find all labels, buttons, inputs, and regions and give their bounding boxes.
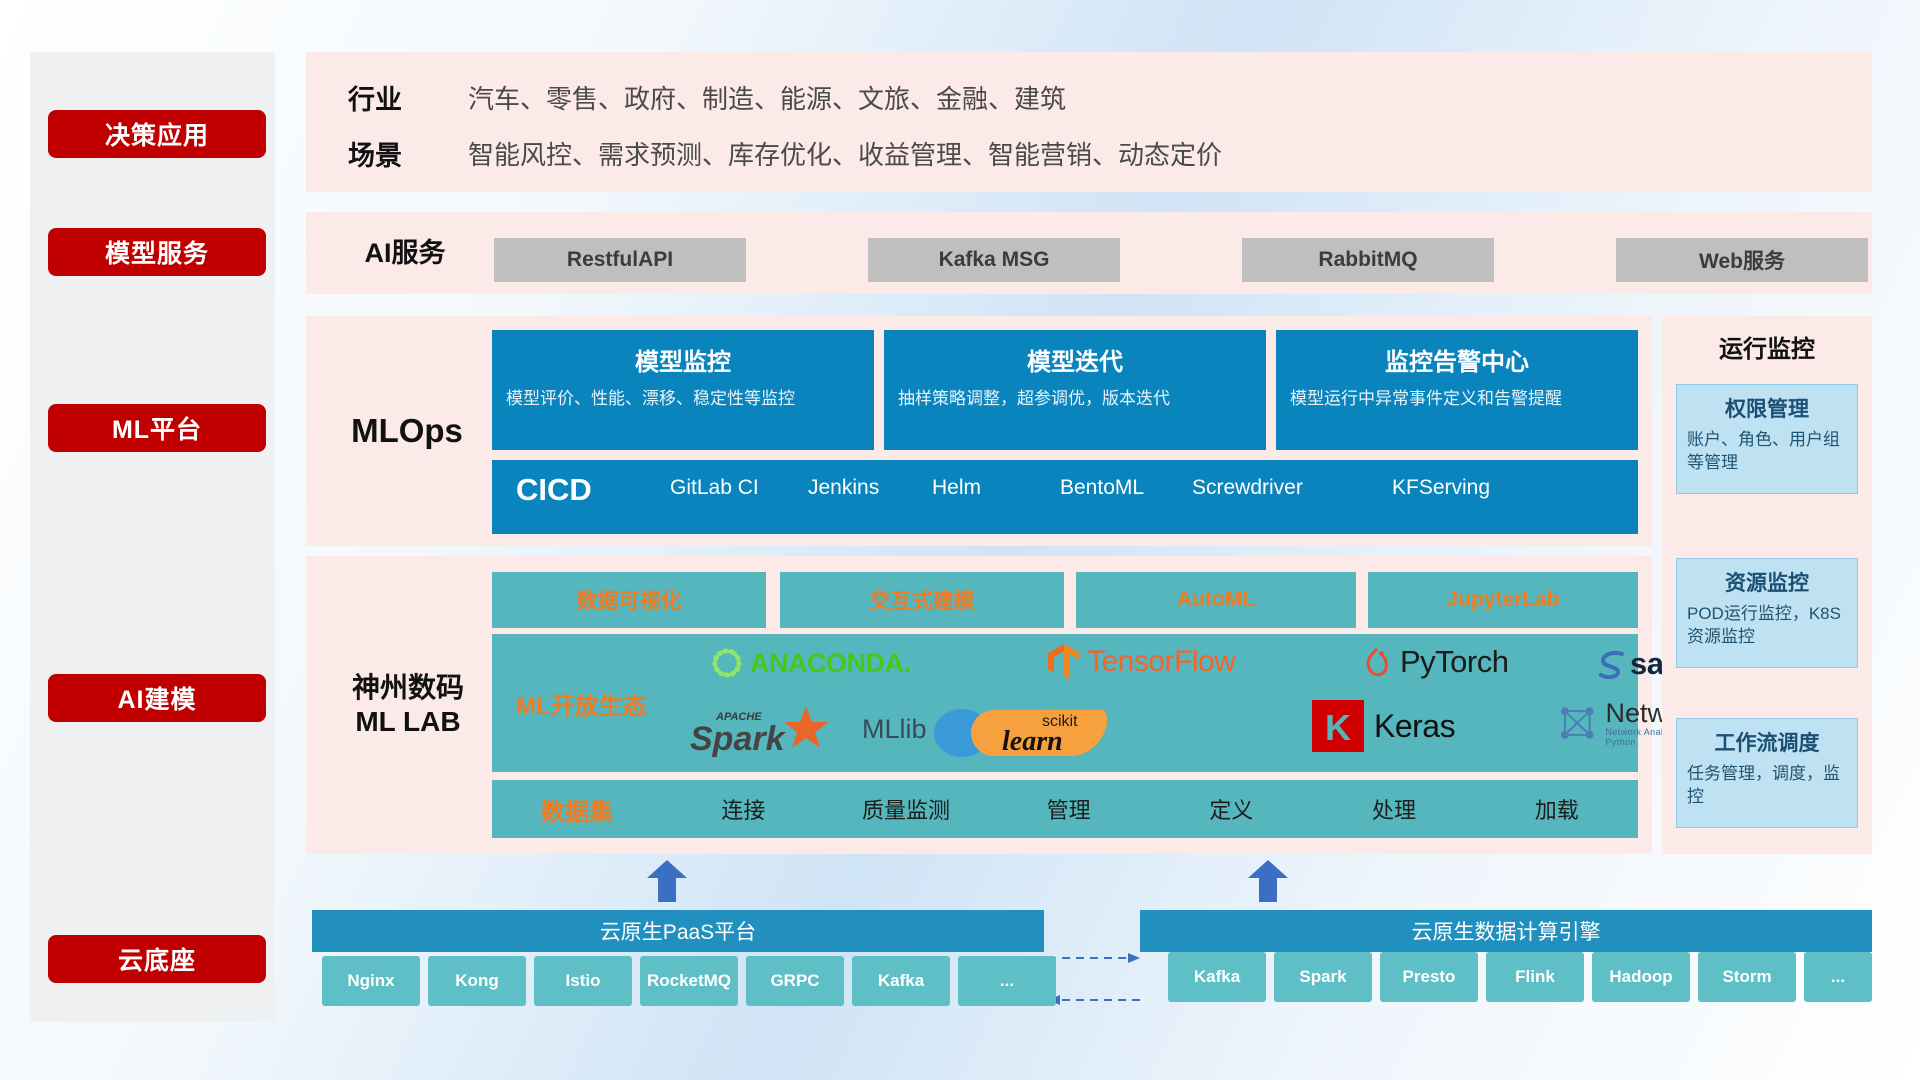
svg-text:learn: learn [1002, 726, 1063, 757]
service-chip-label: RabbitMQ [1318, 248, 1417, 272]
monitor-card-title: 资源监控 [1687, 567, 1847, 597]
lab-tab-jupyterlab[interactable]: JupyterLab [1368, 572, 1638, 628]
stage-label: AI建模 [117, 680, 196, 716]
lab-tab-interactive-modeling[interactable]: 交互式建模 [780, 572, 1064, 628]
ops-card-desc: 抽样策略调整，超参调优，版本迭代 [898, 387, 1252, 410]
sas-swirl-icon [1596, 648, 1628, 680]
ops-card-model-monitor[interactable]: 模型监控 模型评价、性能、漂移、稳定性等监控 [492, 330, 874, 450]
service-chip-restfulapi[interactable]: RestfulAPI [494, 238, 746, 282]
lab-tab-automl[interactable]: AutoML [1076, 572, 1356, 628]
scenario-value: 智能风控、需求预测、库存优化、收益管理、智能营销、动态定价 [468, 135, 1222, 172]
ops-card-title: 模型监控 [506, 342, 860, 377]
stage-chip-ml-platform[interactable]: ML平台 [48, 404, 266, 452]
lab-tab-label: JupyterLab [1446, 588, 1559, 612]
tensorflow-mark-icon [1048, 644, 1080, 680]
monitor-card-resource[interactable]: 资源监控 POD运行监控，K8S资源监控 [1676, 558, 1858, 668]
service-chip-label: RestfulAPI [567, 248, 673, 272]
engine-up-arrow-icon [1246, 860, 1290, 902]
ml-ecosystem-box: ML开放生态 ANACONDA. TensorFlow PyTorc [492, 634, 1638, 772]
ml-lab-label: 神州数码 ML LAB [318, 556, 498, 854]
service-chip-label: Web服务 [1699, 245, 1785, 275]
lab-tab-label: 交互式建模 [870, 585, 975, 615]
paas-chip-kong[interactable]: Kong [428, 956, 526, 1006]
ml-ecosystem-label: ML开放生态 [516, 686, 647, 721]
paas-chip-grpc[interactable]: GRPC [746, 956, 844, 1006]
monitor-card-permission[interactable]: 权限管理 账户、角色、用户组等管理 [1676, 384, 1858, 494]
service-chip-rabbitmq[interactable]: RabbitMQ [1242, 238, 1494, 282]
engine-chip-presto[interactable]: Presto [1380, 952, 1478, 1002]
scenario-row: 场景 智能风控、需求预测、库存优化、收益管理、智能营销、动态定价 [348, 134, 1222, 173]
industry-value: 汽车、零售、政府、制造、能源、文旅、金融、建筑 [468, 79, 1066, 116]
engine-chip-storm[interactable]: Storm [1698, 952, 1796, 1002]
engine-chip-more[interactable]: ... [1804, 952, 1872, 1002]
stage-chip-ai-modeling[interactable]: AI建模 [48, 674, 266, 722]
svg-text:K: K [1325, 707, 1351, 748]
lab-tab-label: 数据可视化 [577, 585, 682, 615]
stage-chip-model-svc[interactable]: 模型服务 [48, 228, 266, 276]
monitor-card-title: 工作流调度 [1687, 727, 1847, 757]
scikit-learn-logo: scikit learn [932, 700, 1122, 758]
cicd-item-bentoml[interactable]: BentoML [1060, 474, 1172, 502]
monitor-card-workflow[interactable]: 工作流调度 任务管理，调度，监控 [1676, 718, 1858, 828]
engine-bar-label: 云原生数据计算引擎 [1412, 916, 1601, 946]
cicd-item-screwdriver[interactable]: Screwdriver [1192, 474, 1304, 502]
stage-label: 云底座 [118, 941, 196, 977]
ml-lab-label-line1: 神州数码 [352, 671, 464, 705]
engine-chip-flink[interactable]: Flink [1486, 952, 1584, 1002]
pytorch-logo: PyTorch [1362, 644, 1508, 680]
paas-up-arrow-icon [645, 860, 689, 902]
dataset-item-load[interactable]: 加载 [1475, 793, 1638, 825]
pytorch-flame-icon [1362, 645, 1392, 679]
paas-bar: 云原生PaaS平台 [312, 910, 1044, 952]
runtime-monitor-title: 运行监控 [1662, 322, 1872, 378]
keras-logo: K Keras [1312, 700, 1455, 752]
dataset-item-define[interactable]: 定义 [1150, 793, 1313, 825]
dataset-item-manage[interactable]: 管理 [987, 793, 1150, 825]
cicd-label: CICD [516, 472, 592, 508]
tensorflow-logo-text: TensorFlow [1087, 645, 1235, 679]
mlops-label: MLOps [322, 316, 492, 546]
ops-card-desc: 模型运行中异常事件定义和告警提醒 [1290, 387, 1624, 410]
paas-chip-istio[interactable]: Istio [534, 956, 632, 1006]
engine-chip-kafka[interactable]: Kafka [1168, 952, 1266, 1002]
dataset-item-quality[interactable]: 质量监测 [825, 793, 988, 825]
ml-lab-label-line2: ML LAB [352, 705, 464, 739]
lab-tab-data-visualization[interactable]: 数据可视化 [492, 572, 766, 628]
industry-row: 行业 汽车、零售、政府、制造、能源、文旅、金融、建筑 [348, 78, 1066, 117]
ops-card-title: 模型迭代 [898, 342, 1252, 377]
svg-text:Spark: Spark [690, 720, 787, 758]
spark-mllib-logo: APACHE Spark MLlib [688, 700, 927, 758]
paas-engine-connectors [1044, 944, 1144, 1014]
mllib-logo-text: MLlib [862, 714, 927, 745]
ops-card-desc: 模型评价、性能、漂移、稳定性等监控 [506, 387, 860, 410]
networkx-graph-icon [1556, 701, 1599, 747]
stage-chip-decision[interactable]: 决策应用 [48, 110, 266, 158]
scenario-key: 场景 [348, 134, 468, 173]
cicd-item-helm[interactable]: Helm [932, 474, 1044, 502]
ops-card-title: 监控告警中心 [1290, 342, 1624, 377]
anaconda-logo: ANACONDA. [710, 646, 911, 680]
dataset-bar: 数据集 连接 质量监测 管理 定义 处理 加载 [492, 780, 1638, 838]
scikit-learn-mark-icon: scikit learn [932, 700, 1122, 758]
dataset-label: 数据集 [492, 792, 662, 827]
service-chip-kafka-msg[interactable]: Kafka MSG [868, 238, 1120, 282]
anaconda-ring-icon [710, 646, 744, 680]
stage-rail [30, 52, 275, 1022]
paas-chip-rocketmq[interactable]: RocketMQ [640, 956, 738, 1006]
stage-chip-cloud-base[interactable]: 云底座 [48, 935, 266, 983]
ai-service-label: AI服务 [330, 212, 480, 294]
apache-spark-mark-icon: APACHE Spark [688, 700, 856, 758]
cicd-item-gitlab-ci[interactable]: GitLab CI [670, 474, 782, 502]
monitor-card-title: 权限管理 [1687, 393, 1847, 423]
paas-bar-label: 云原生PaaS平台 [600, 916, 756, 946]
industry-key: 行业 [348, 78, 468, 117]
tensorflow-logo: TensorFlow [1048, 644, 1235, 680]
service-chip-label: Kafka MSG [939, 248, 1050, 272]
cicd-item-jenkins[interactable]: Jenkins [808, 474, 920, 502]
stage-label: 模型服务 [105, 234, 209, 270]
architecture-diagram: 决策应用 模型服务 ML平台 AI建模 云底座 行业 汽车、零售、政府、制造、能… [0, 0, 1920, 1080]
engine-chip-spark[interactable]: Spark [1274, 952, 1372, 1002]
cicd-bar: CICD GitLab CI Jenkins Helm BentoML Scre… [492, 460, 1638, 534]
ops-card-alert-center[interactable]: 监控告警中心 模型运行中异常事件定义和告警提醒 [1276, 330, 1638, 450]
paas-chip-nginx[interactable]: Nginx [322, 956, 420, 1006]
anaconda-logo-text: ANACONDA. [750, 648, 911, 679]
cicd-item-kfserving[interactable]: KFServing [1392, 474, 1504, 502]
monitor-card-desc: 账户、角色、用户组等管理 [1687, 429, 1847, 475]
keras-logo-text: Keras [1374, 708, 1455, 745]
dataset-item-connect[interactable]: 连接 [662, 793, 825, 825]
monitor-card-desc: POD运行监控，K8S资源监控 [1687, 603, 1847, 649]
pytorch-logo-text: PyTorch [1400, 644, 1508, 680]
monitor-card-desc: 任务管理，调度，监控 [1687, 763, 1847, 809]
engine-bar: 云原生数据计算引擎 [1140, 910, 1872, 952]
stage-label: 决策应用 [105, 116, 209, 152]
keras-mark-icon: K [1312, 700, 1364, 752]
engine-chip-hadoop[interactable]: Hadoop [1592, 952, 1690, 1002]
lab-tab-label: AutoML [1177, 588, 1255, 612]
ops-card-model-iteration[interactable]: 模型迭代 抽样策略调整，超参调优，版本迭代 [884, 330, 1266, 450]
dataset-item-process[interactable]: 处理 [1313, 793, 1476, 825]
service-chip-web[interactable]: Web服务 [1616, 238, 1868, 282]
stage-label: ML平台 [112, 410, 202, 446]
paas-chip-more[interactable]: ... [958, 956, 1056, 1006]
paas-chip-kafka[interactable]: Kafka [852, 956, 950, 1006]
